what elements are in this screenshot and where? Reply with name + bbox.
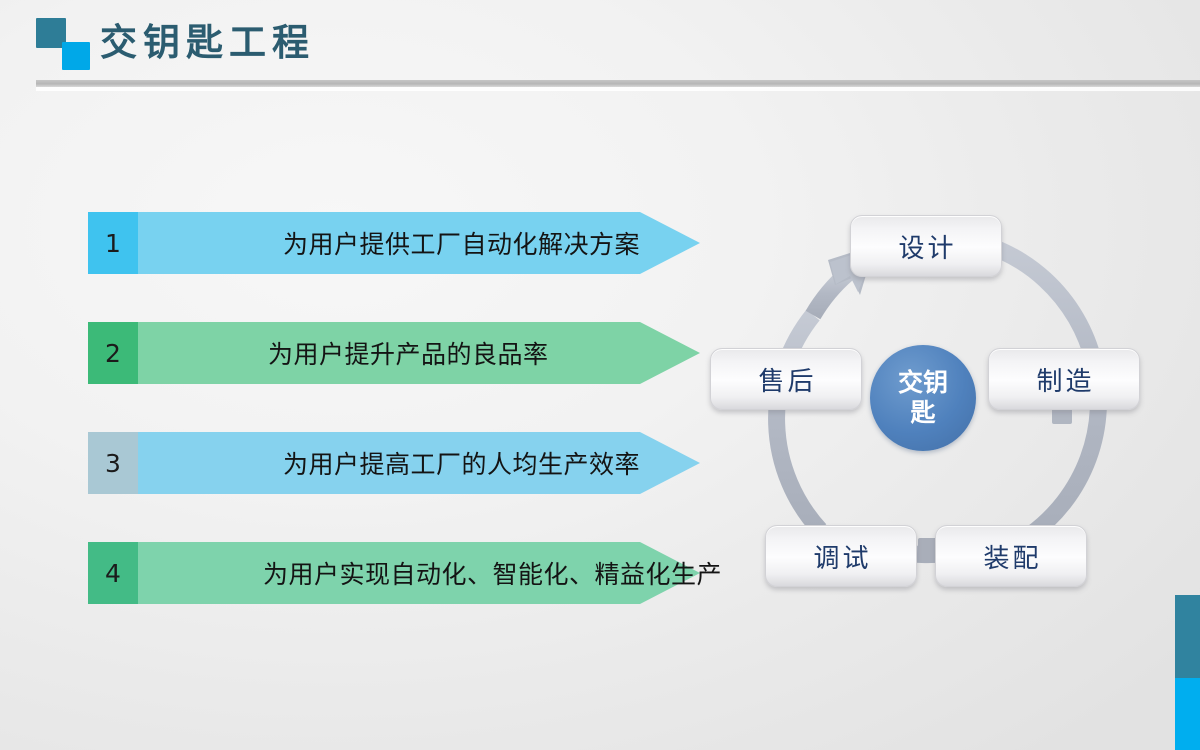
title-divider-highlight — [36, 87, 1200, 91]
slide-canvas: 交钥匙工程 1 为用户提供工厂自动化解决方案 2 为用户提升产品的良品率 3 为… — [0, 0, 1200, 750]
list-item-label: 为用户提高工厂的人均生产效率 — [138, 432, 640, 494]
list-item[interactable]: 1 为用户提供工厂自动化解决方案 — [88, 212, 703, 274]
cycle-node-assembly[interactable]: 装配 — [935, 525, 1087, 587]
cycle-center-label: 交钥匙 — [870, 345, 976, 451]
list-item-label: 为用户提供工厂自动化解决方案 — [138, 212, 640, 274]
cycle-node-manufacture[interactable]: 制造 — [988, 348, 1140, 410]
list-item-number: 1 — [88, 212, 138, 274]
list-item-number: 4 — [88, 542, 138, 604]
process-cycle-diagram: 设计 制造 装配 调试 售后 交钥匙 — [700, 190, 1180, 620]
corner-accent-bottom — [1175, 678, 1200, 750]
corner-accent-top — [1175, 595, 1200, 678]
list-item[interactable]: 2 为用户提升产品的良品率 — [88, 322, 703, 384]
list-item[interactable]: 4 为用户实现自动化、智能化、精益化生产 — [88, 542, 703, 604]
page-title: 交钥匙工程 — [100, 18, 315, 68]
list-item-label: 为用户提升产品的良品率 — [138, 322, 549, 384]
list-item-number: 2 — [88, 322, 138, 384]
corner-accent-bar — [1175, 595, 1200, 750]
list-item-label: 为用户实现自动化、智能化、精益化生产 — [138, 542, 722, 604]
logo-mark — [36, 18, 98, 70]
list-item-number: 3 — [88, 432, 138, 494]
logo-square-light-icon — [62, 42, 90, 70]
cycle-node-design[interactable]: 设计 — [850, 215, 1002, 277]
benefit-arrow-list: 1 为用户提供工厂自动化解决方案 2 为用户提升产品的良品率 3 为用户提高工厂… — [88, 212, 703, 652]
list-item[interactable]: 3 为用户提高工厂的人均生产效率 — [88, 432, 703, 494]
cycle-node-after-sales[interactable]: 售后 — [710, 348, 862, 410]
title-divider — [36, 80, 1200, 87]
cycle-node-debug[interactable]: 调试 — [765, 525, 917, 587]
